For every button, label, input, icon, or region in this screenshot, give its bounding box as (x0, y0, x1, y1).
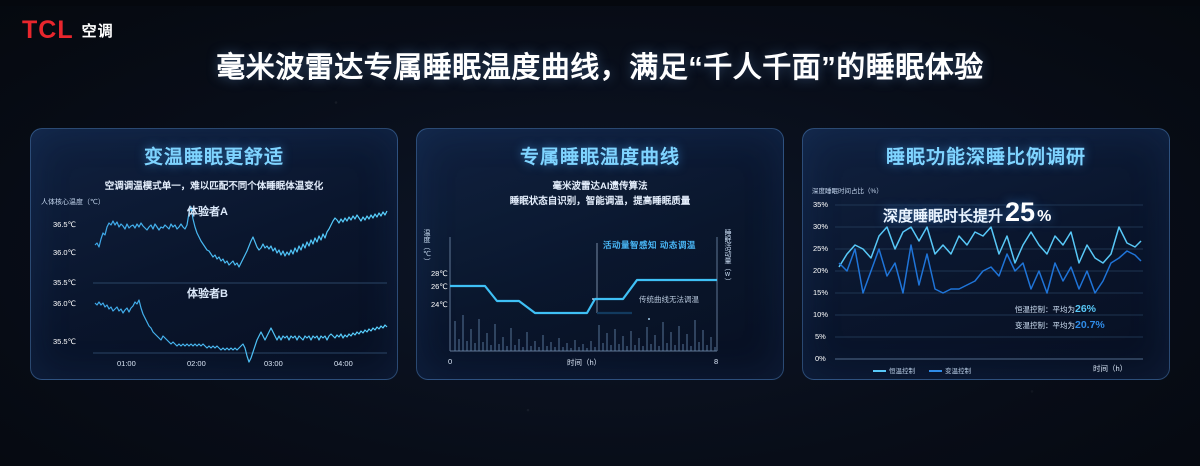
card-title: 专属睡眠温度曲线 (417, 142, 783, 169)
x-tick-1: 01:00 (117, 359, 136, 368)
chart-deep-sleep-ratio: 35% 30% 25% 20% 15% 10% 5% 0% 深度睡眠时长提升 2… (803, 191, 1170, 379)
card-title: 变温睡眠更舒适 (31, 142, 397, 169)
y-tick-1: 28℃ (431, 269, 448, 278)
page-title: 毫米波雷达专属睡眠温度曲线，满足“千人千面”的睡眠体验 (0, 44, 1200, 86)
y-tick-8: 0% (815, 354, 826, 363)
legend-item-constant: 恒温控制 (873, 365, 915, 375)
stat-constant-temp: 恒温控制：平均为26% (1015, 303, 1096, 315)
stat-variable-value: 20.7% (1075, 319, 1105, 331)
card-title: 睡眠功能深睡比例调研 (803, 142, 1169, 169)
cards-container: 变温睡眠更舒适 空调调温模式单一，难以匹配不同个体睡眠体温变化 人体核心温度（℃… (0, 128, 1200, 383)
y-tick-7: 5% (815, 332, 826, 341)
x-tick-2: 02:00 (187, 359, 206, 368)
hero-label: 深度睡眠时长提升 (883, 205, 1003, 226)
y-axis-label-right: 睡眠活动量（w） (723, 229, 731, 285)
hero-percent: % (1037, 208, 1051, 226)
legend-label-constant: 恒温控制 (889, 368, 915, 375)
annotation-legacy-curve: 传统曲线无法调温 (639, 294, 699, 305)
brand-product: 空调 (82, 20, 114, 41)
x-tick-4: 04:00 (334, 359, 353, 368)
card-dedicated-sleep-curve: 专属睡眠温度曲线 毫米波雷达AI遗传算法 睡眠状态自识别，智能调温，提高睡眠质量 (416, 128, 784, 380)
y-axis-label-left: 温度（℃） (422, 229, 430, 265)
card-subtitle-line2: 睡眠状态自识别，智能调温，提高睡眠质量 (417, 195, 783, 209)
y-tick-3: 24℃ (431, 300, 448, 309)
hero-number: 25 (1005, 197, 1035, 228)
x-tick-end: 8 (714, 357, 718, 366)
y-tick-top-2: 36.0℃ (53, 248, 76, 257)
chart-body-temperature: 36.5℃ 36.0℃ 35.5℃ 36.0℃ 35.5℃ 体验者A 体验者B … (39, 205, 391, 375)
y-tick-3: 25% (813, 244, 828, 253)
y-tick-2: 30% (813, 222, 828, 231)
stat-variable-label: 变温控制：平均为 (1015, 321, 1075, 330)
y-tick-top-1: 36.5℃ (53, 220, 76, 229)
brand-name: TCL (22, 16, 74, 45)
top-strip (0, 0, 1200, 6)
brand-logo: TCL 空调 (22, 16, 114, 45)
stat-constant-value: 26% (1075, 303, 1096, 315)
card-subtitle-line1: 毫米波雷达AI遗传算法 (417, 180, 783, 194)
x-axis-label: 时间（h） (567, 357, 601, 368)
card-subtitle: 空调调温模式单一，难以匹配不同个体睡眠体温变化 (31, 180, 397, 194)
legend-label-variable: 变温控制 (945, 368, 971, 375)
y-tick-4: 20% (813, 266, 828, 275)
y-tick-bottom-2: 35.5℃ (53, 337, 76, 346)
stat-variable-temp: 变温控制：平均为20.7% (1015, 319, 1105, 331)
y-tick-5: 15% (813, 288, 828, 297)
chart-legend: 恒温控制 变温控制 (873, 365, 971, 375)
legend-item-variable: 变温控制 (929, 365, 971, 375)
series-label-subject-a: 体验者A (187, 203, 228, 219)
card-deep-sleep-research: 睡眠功能深睡比例调研 深度睡眠时间占比（%） (802, 128, 1170, 380)
y-tick-2: 26℃ (431, 282, 448, 291)
x-axis-label: 时间（h） (1093, 363, 1127, 374)
y-tick-bottom-1: 36.0℃ (53, 299, 76, 308)
y-tick-6: 10% (813, 310, 828, 319)
stat-constant-label: 恒温控制：平均为 (1015, 305, 1075, 314)
x-tick-3: 03:00 (264, 359, 283, 368)
x-tick-start: 0 (448, 357, 452, 366)
series-label-subject-b: 体验者B (187, 285, 228, 301)
annotation-active-sensing: 活动量智感知 动态调温 (603, 239, 696, 251)
chart-sleep-temperature-curve: 温度（℃） 睡眠活动量（w） 28℃ 26℃ 24℃ 活动量智感知 动态调温 传… (417, 229, 784, 379)
y-tick-top-3: 35.5℃ (53, 278, 76, 287)
card-variable-temp-sleep: 变温睡眠更舒适 空调调温模式单一，难以匹配不同个体睡眠体温变化 人体核心温度（℃… (30, 128, 398, 380)
y-tick-1: 35% (813, 200, 828, 209)
hero-stat: 深度睡眠时长提升 25 % (883, 197, 1051, 228)
